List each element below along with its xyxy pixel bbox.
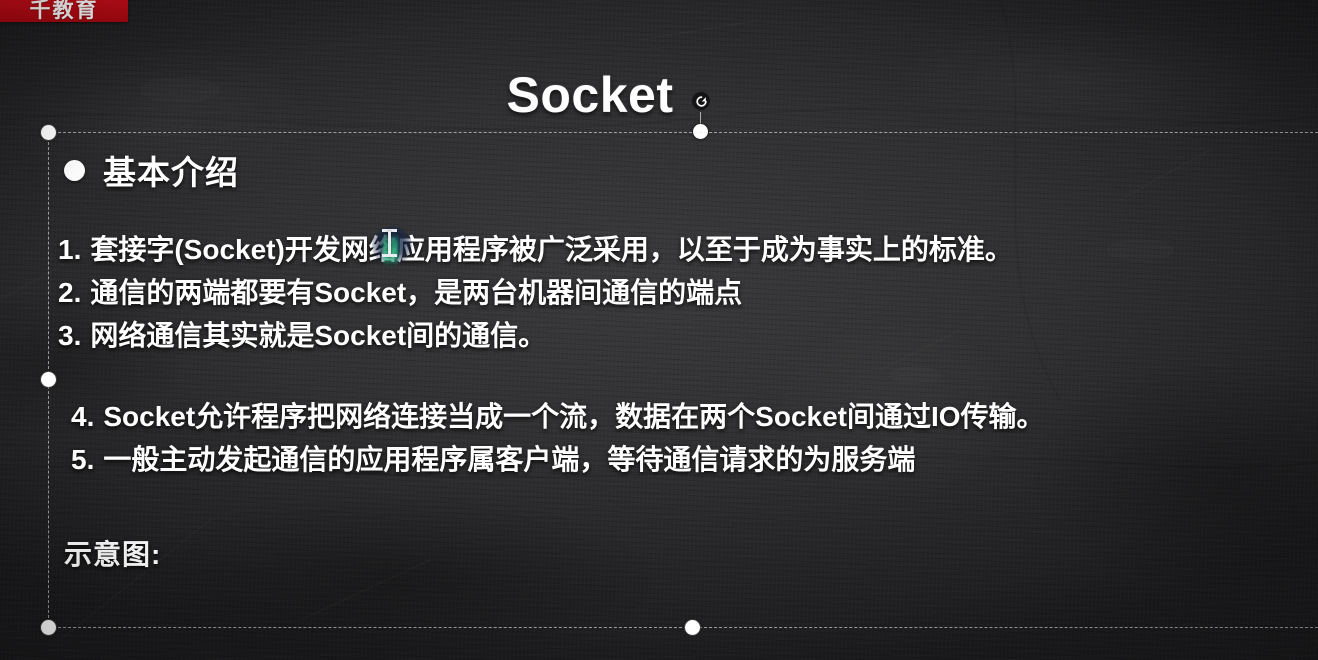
cursor-serif-bottom (382, 254, 397, 257)
resize-handle-bottom-left[interactable] (41, 620, 56, 635)
slide-title[interactable]: Socket (0, 66, 1180, 124)
list-item-text: 一般主动发起通信的应用程序属客户端，等待通信请求的为服务端 (103, 438, 915, 481)
channel-logo-badge: 千教育 (0, 0, 128, 22)
section-heading-label: 基本介绍 (103, 146, 239, 194)
list-item-number: 5. (71, 438, 94, 481)
numbered-list-group-1: 1. 套接字(Socket)开发网络应用程序被广泛采用，以至于成为事实上的标准。… (58, 228, 1310, 357)
list-item-text: 套接字(Socket)开发网络应用程序被广泛采用，以至于成为事实上的标准。 (90, 228, 1012, 271)
list-item-text: 网络通信其实就是Socket间的通信。 (90, 314, 546, 357)
list-item[interactable]: 3. 网络通信其实就是Socket间的通信。 (58, 314, 1310, 357)
list-item[interactable]: 2. 通信的两端都要有Socket，是两台机器间通信的端点 (58, 271, 1310, 314)
channel-logo-text: 千教育 (30, 1, 99, 22)
slide-canvas[interactable]: 千教育 Socket 基本介绍 1. 套接字(Socket)开发网络应用程序被 (0, 0, 1318, 660)
list-item[interactable]: 5. 一般主动发起通信的应用程序属客户端，等待通信请求的为服务端 (58, 438, 1310, 481)
figure-label[interactable]: 示意图: (64, 533, 1310, 573)
slide-body: 基本介绍 1. 套接字(Socket)开发网络应用程序被广泛采用，以至于成为事实… (58, 140, 1310, 573)
list-item-number: 1. (58, 228, 81, 271)
resize-handle-top-left[interactable] (41, 125, 56, 140)
list-item-number: 3. (58, 314, 81, 357)
rotate-handle-icon[interactable] (692, 92, 710, 110)
list-item-text: Socket允许程序把网络连接当成一个流，数据在两个Socket间通过IO传输。 (103, 395, 1044, 438)
list-item[interactable]: 1. 套接字(Socket)开发网络应用程序被广泛采用，以至于成为事实上的标准。 (58, 228, 1310, 271)
section-heading[interactable]: 基本介绍 (64, 146, 1310, 194)
list-item-number: 2. (58, 271, 81, 314)
resize-handle-bottom-center[interactable] (685, 620, 700, 635)
text-ibeam-cursor (372, 226, 412, 268)
list-item[interactable]: 4. Socket允许程序把网络连接当成一个流，数据在两个Socket间通过IO… (58, 395, 1310, 438)
filled-circle-bullet-icon (64, 160, 85, 181)
resize-handle-middle-left[interactable] (41, 372, 56, 387)
numbered-list-group-2: 4. Socket允许程序把网络连接当成一个流，数据在两个Socket间通过IO… (58, 395, 1310, 481)
list-item-number: 4. (71, 395, 94, 438)
list-item-text: 通信的两端都要有Socket，是两台机器间通信的端点 (90, 271, 742, 314)
